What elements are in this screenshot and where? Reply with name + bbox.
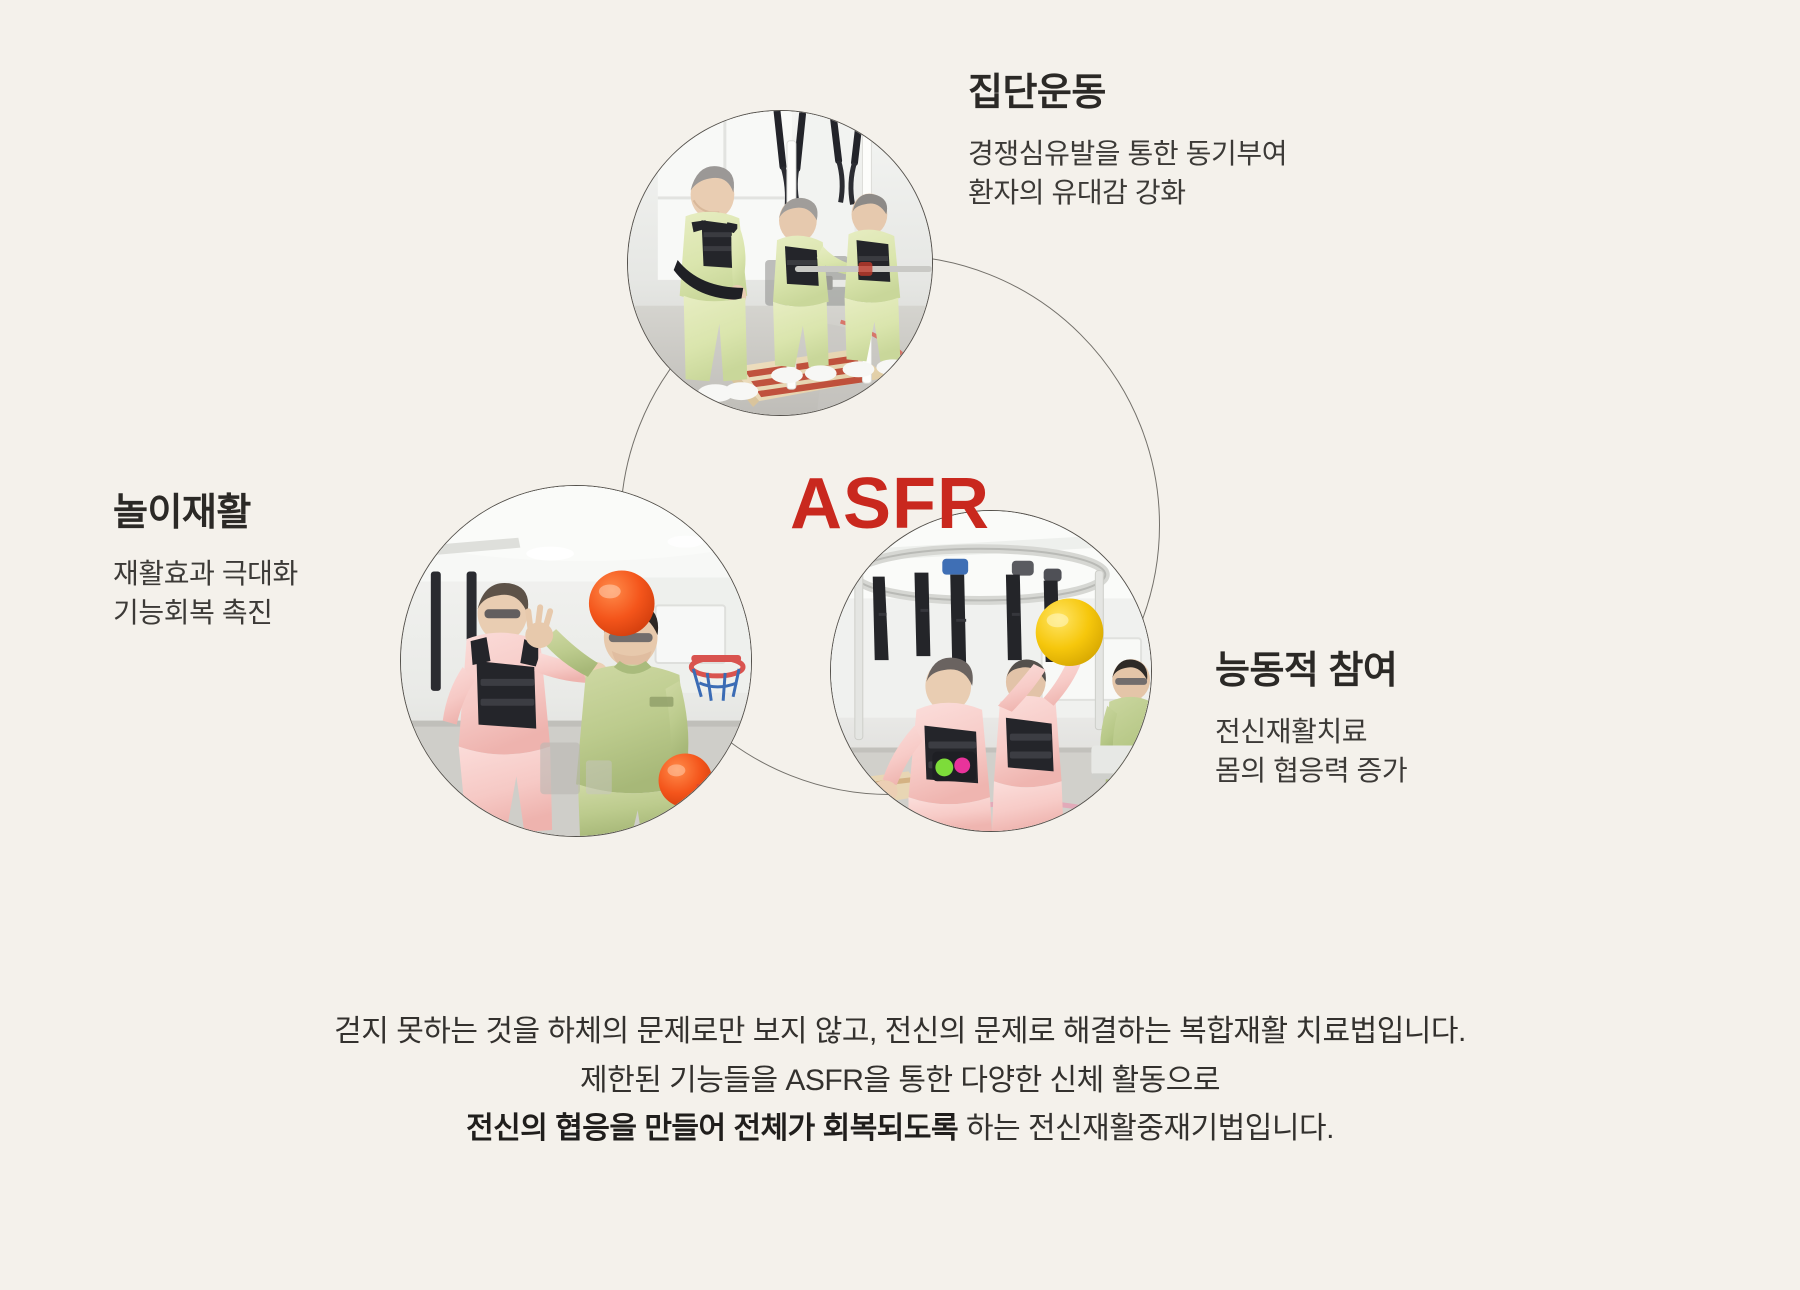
label-play-rehab-line-1: 재활효과 극대화 <box>113 554 298 594</box>
harness-gait-training-photo <box>628 111 932 415</box>
label-play-rehab-line-2: 기능회복 촉진 <box>113 593 298 633</box>
label-active-participation-line-1: 전신재활치료 <box>1215 712 1407 752</box>
summary-paragraph: 걷지 못하는 것을 하체의 문제로만 보지 않고, 전신의 문제로 해결하는 복… <box>0 1008 1800 1154</box>
center-wordmark: ASFR <box>700 468 1080 540</box>
label-active-participation-line-2: 몸의 협응력 증가 <box>1215 751 1407 791</box>
label-group-exercise-line-1: 경쟁심유발을 통한 동기부여 <box>968 134 1287 174</box>
summary-line-1: 걷지 못하는 것을 하체의 문제로만 보지 않고, 전신의 문제로 해결하는 복… <box>0 1008 1800 1057</box>
overhead-rail-balloon-photo <box>831 511 1151 831</box>
summary-line-3-strong: 전신의 협응을 만들어 전체가 회복되도록 <box>466 1112 958 1145</box>
summary-line-3-rest: 하는 전신재활중재기법입니다. <box>958 1112 1334 1145</box>
label-play-rehab-title: 놀이재활 <box>113 492 298 536</box>
photo-circle-group-exercise <box>627 110 933 416</box>
summary-line-3: 전신의 협응을 만들어 전체가 회복되도록 하는 전신재활중재기법입니다. <box>0 1105 1800 1154</box>
label-active-participation-title: 능동적 참여 <box>1215 650 1407 694</box>
label-group-exercise-title: 집단운동 <box>968 72 1287 116</box>
label-active-participation: 능동적 참여 전신재활치료 몸의 협응력 증가 <box>1215 650 1407 791</box>
infographic-canvas: ASFR 집단운동 경쟁심유발을 통한 동기부여 환자의 유대감 강화 놀이재활… <box>0 0 1800 1290</box>
summary-line-2: 제한된 기능들을 ASFR을 통한 다양한 신체 활동으로 <box>0 1057 1800 1106</box>
label-group-exercise: 집단운동 경쟁심유발을 통한 동기부여 환자의 유대감 강화 <box>968 72 1287 213</box>
label-group-exercise-line-2: 환자의 유대감 강화 <box>968 173 1287 213</box>
ball-toss-therapy-photo <box>401 486 751 836</box>
photo-circle-active-participation <box>830 510 1152 832</box>
label-play-rehab: 놀이재활 재활효과 극대화 기능회복 촉진 <box>113 492 298 633</box>
